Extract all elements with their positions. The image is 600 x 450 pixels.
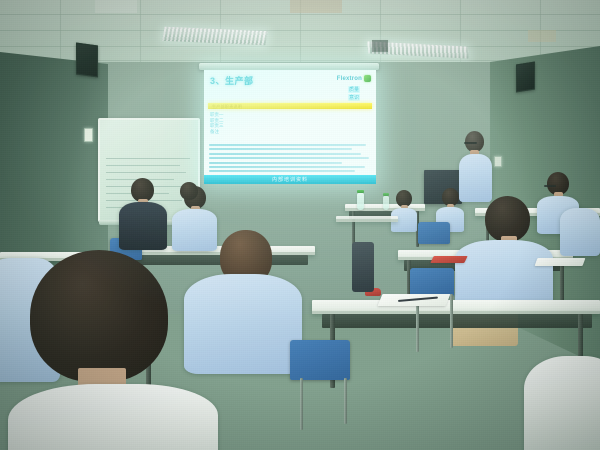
chair[interactable] <box>418 222 450 244</box>
chair[interactable] <box>410 268 454 296</box>
chair[interactable] <box>290 340 350 380</box>
table-row <box>312 300 600 314</box>
projection-screen-housing <box>199 63 379 70</box>
slide-badge: 质量 意识 <box>348 86 360 101</box>
ceiling-tile-stained <box>290 0 342 13</box>
light-switch-plate[interactable] <box>84 128 93 142</box>
attendee-mid-blue <box>390 190 418 230</box>
attendee-front-white-shirt <box>8 250 218 450</box>
wall-speaker-right-front <box>516 61 535 92</box>
attendee-tiny-a <box>178 182 202 206</box>
slide-badge-line-2: 意识 <box>348 94 360 101</box>
ceiling-tile-light-a <box>95 0 137 13</box>
slide-highlight-bar: 生产部职责说明 <box>208 103 372 109</box>
table-row <box>336 216 398 222</box>
slide-bullet-list: 职责一 职责二 职责三 备注 <box>210 112 270 134</box>
attendee-dark-shirt <box>118 178 168 250</box>
ceiling-tile-stained-b <box>528 30 556 42</box>
slide-logo-text: Flextron <box>337 76 362 82</box>
slide-badge-line-1: 质量 <box>348 86 360 93</box>
slide-footer-text: 内部培训资料 <box>272 176 308 183</box>
notebook-far-right[interactable] <box>535 258 586 266</box>
water-bottle-right[interactable] <box>383 196 389 210</box>
leaf-logo-icon <box>364 75 371 82</box>
wall-speaker-left <box>76 42 98 77</box>
wall-speaker-right-rear <box>372 40 388 52</box>
projection-screen: 3、生产部 Flextron 质量 意识 生产部职责说明 职责一 职责二 职责三… <box>204 70 376 184</box>
slide-footer-bar: 内部培训资料 <box>204 175 376 184</box>
attendee-far-right-blue <box>560 196 600 256</box>
attendee-right-khaki <box>455 196 555 306</box>
slide-body-text <box>209 144 371 179</box>
notebook-red[interactable] <box>430 256 467 263</box>
attendee-right-rear-blue <box>524 356 600 450</box>
slide-logo: Flextron <box>337 75 371 82</box>
slide-bullet-3: 备注 <box>210 129 270 135</box>
attendee-red-shoes-legs <box>352 242 374 292</box>
water-bottle-left[interactable] <box>357 193 364 210</box>
classroom-photo: 3、生产部 Flextron 质量 意识 生产部职责说明 职责一 职责二 职责三… <box>0 0 600 450</box>
slide-title: 3、生产部 <box>210 74 254 87</box>
slide-highlight-label: 生产部职责说明 <box>212 104 242 110</box>
